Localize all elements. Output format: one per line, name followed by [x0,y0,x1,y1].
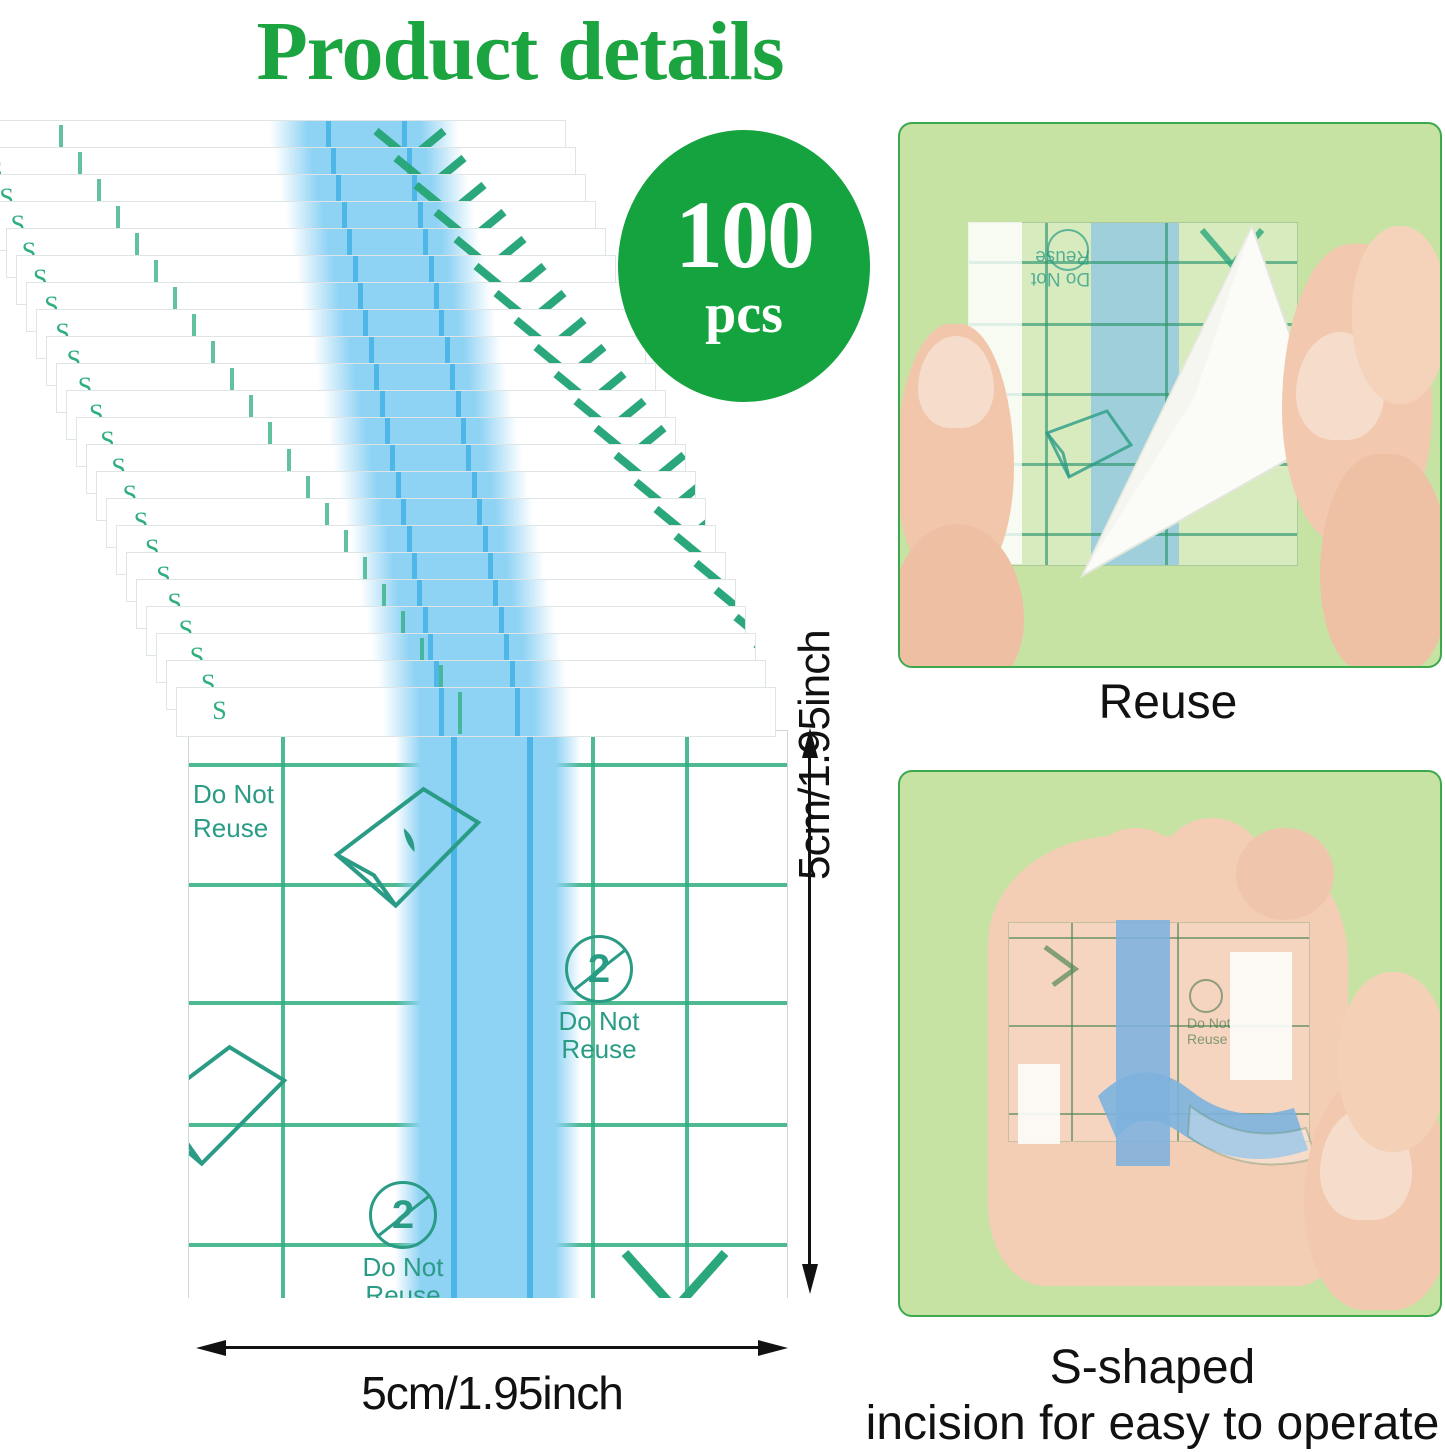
arrow-shaft-h [220,1346,764,1349]
behind-sheet-text-line1: Do Not [193,777,274,811]
white-release-liner-left [1018,1064,1060,1144]
stacked-sheet: S [176,687,776,737]
arrow-head-down-icon [802,1264,818,1294]
applied-film-dnr-label: Do Not Reuse [1187,1015,1231,1047]
caption-line1: S-shaped [860,1340,1445,1396]
blue-stripe-edge-right [527,731,533,1298]
quantity-badge: 100 pcs [618,130,870,402]
do-not-reuse-icon-symbol: 2 [588,949,610,989]
do-not-reuse-label-line1-2: Do Not [355,1253,451,1281]
height-dimension-label: 5cm/1.95inch [790,630,840,880]
do-not-reuse-label-line1: Do Not [551,1007,647,1035]
badge-unit: pcs [705,285,783,343]
product-details-page: Product details SSSSSSSSSSSSSSSSSSSSSS [0,0,1445,1433]
caption-line2: incision for easy to operate [860,1396,1445,1452]
panel-caption-reuse: Reuse [898,676,1438,730]
knuckle-4 [1236,828,1334,920]
photo-panel-s-shaped: Do Not Reuse [898,770,1442,1317]
do-not-reuse-mark-right: 2 Do Not Reuse [551,935,647,1063]
badge-count: 100 [675,189,813,281]
right-knuckle [1352,226,1442,404]
sheet-blue-stripe [383,688,571,736]
applied-dnr-l2: Reuse [1187,1031,1231,1047]
right-index-finger [1320,454,1442,668]
page-title: Product details [0,2,1040,102]
arrow-head-right-icon [758,1340,788,1356]
front-sheet: 2 Do Not Reuse 2 Do Not Reuse Do Not Reu… [188,730,788,1298]
width-dimension-label: 5cm/1.95inch [196,1366,788,1420]
chevron-icon [619,1247,731,1298]
width-dimension-arrow [196,1340,788,1356]
photo-panel-reuse: Do Not Reuse [898,122,1442,668]
applied-film-arrow-icon [1035,941,1099,1003]
do-not-reuse-icon-2: 2 [369,1181,437,1249]
applied-dnr-l1: Do Not [1187,1015,1231,1031]
applied-film-dnr-icon [1189,979,1223,1013]
s-shaped-photo: Do Not Reuse [900,772,1440,1315]
pinch-knuckle [1338,972,1442,1152]
behind-sheet-text-line2: Reuse [193,811,274,845]
sheet-stripe-edge [439,688,444,736]
do-not-reuse-label-line2: Reuse [551,1035,647,1063]
reuse-photo: Do Not Reuse [900,124,1440,666]
do-not-reuse-label-line2-2: Reuse [355,1281,451,1298]
sheet-letter: S [212,696,226,726]
panel-caption-s-shaped: S-shaped incision for easy to operate [860,1340,1445,1452]
sheet-stripe-edge-2 [515,688,520,736]
peeling-strip [1090,1060,1330,1202]
behind-sheet-text: Do Not Reuse [193,777,274,845]
sheet-grid-mark [458,692,462,734]
do-not-reuse-icon: 2 [565,935,633,1003]
do-not-reuse-mark-bottom: 2 Do Not Reuse [355,1181,451,1298]
do-not-reuse-icon-symbol-2: 2 [392,1195,414,1235]
